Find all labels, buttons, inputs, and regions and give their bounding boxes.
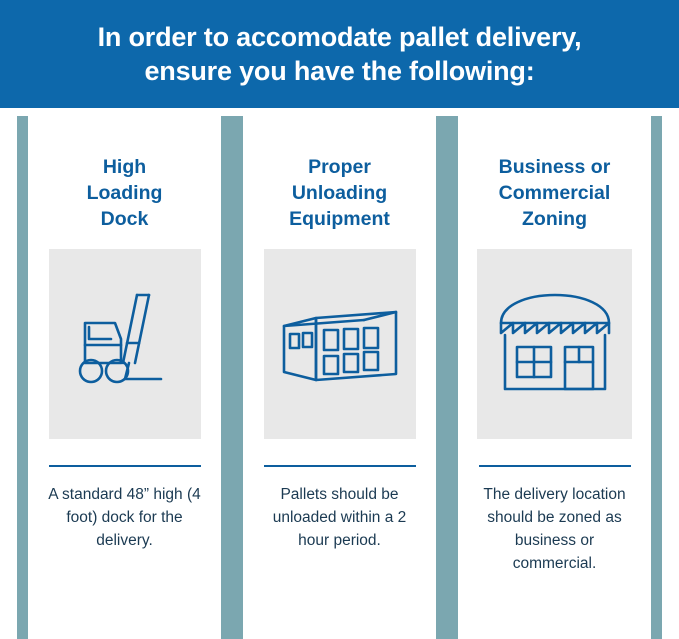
card-title-2-line-1: Proper — [289, 154, 390, 180]
card-high-loading-dock: High Loading Dock — [28, 116, 221, 639]
card-proper-unloading-equipment: Proper Unloading Equipment — [243, 116, 436, 639]
forklift-icon — [65, 289, 185, 399]
card-title-3-line-3: Zoning — [499, 206, 611, 232]
card-title-2: Proper Unloading Equipment — [289, 154, 390, 232]
card-title-1: High Loading Dock — [87, 154, 163, 232]
card-text-3: The delivery location should be zoned as… — [475, 483, 635, 575]
card-icon-box-1 — [49, 249, 201, 439]
card-business-commercial-zoning: Business or Commercial Zoning — [458, 116, 651, 639]
card-title-3-line-1: Business or — [499, 154, 611, 180]
card-title-3: Business or Commercial Zoning — [499, 154, 611, 232]
card-title-3-line-2: Commercial — [499, 180, 611, 206]
card-divider-3 — [479, 465, 631, 467]
warehouse-icon — [276, 296, 404, 392]
header-title-line-1: In order to accomodate pallet delivery, — [98, 20, 582, 54]
card-title-1-line-3: Dock — [87, 206, 163, 232]
card-divider-1 — [49, 465, 201, 467]
poster: In order to accomodate pallet delivery, … — [0, 0, 679, 639]
card-divider-2 — [264, 465, 416, 467]
card-title-1-line-2: Loading — [87, 180, 163, 206]
card-title-1-line-1: High — [87, 154, 163, 180]
storefront-icon — [491, 289, 619, 399]
card-icon-box-2 — [264, 249, 416, 439]
header-title-line-2: ensure you have the following: — [144, 54, 534, 88]
poster-body: High Loading Dock — [0, 108, 679, 639]
card-title-2-line-3: Equipment — [289, 206, 390, 232]
card-icon-box-3 — [477, 249, 632, 439]
card-text-1: A standard 48” high (4 foot) dock for th… — [45, 483, 205, 552]
card-title-2-line-2: Unloading — [289, 180, 390, 206]
card-text-2: Pallets should be unloaded within a 2 ho… — [260, 483, 420, 552]
poster-header: In order to accomodate pallet delivery, … — [0, 0, 679, 108]
